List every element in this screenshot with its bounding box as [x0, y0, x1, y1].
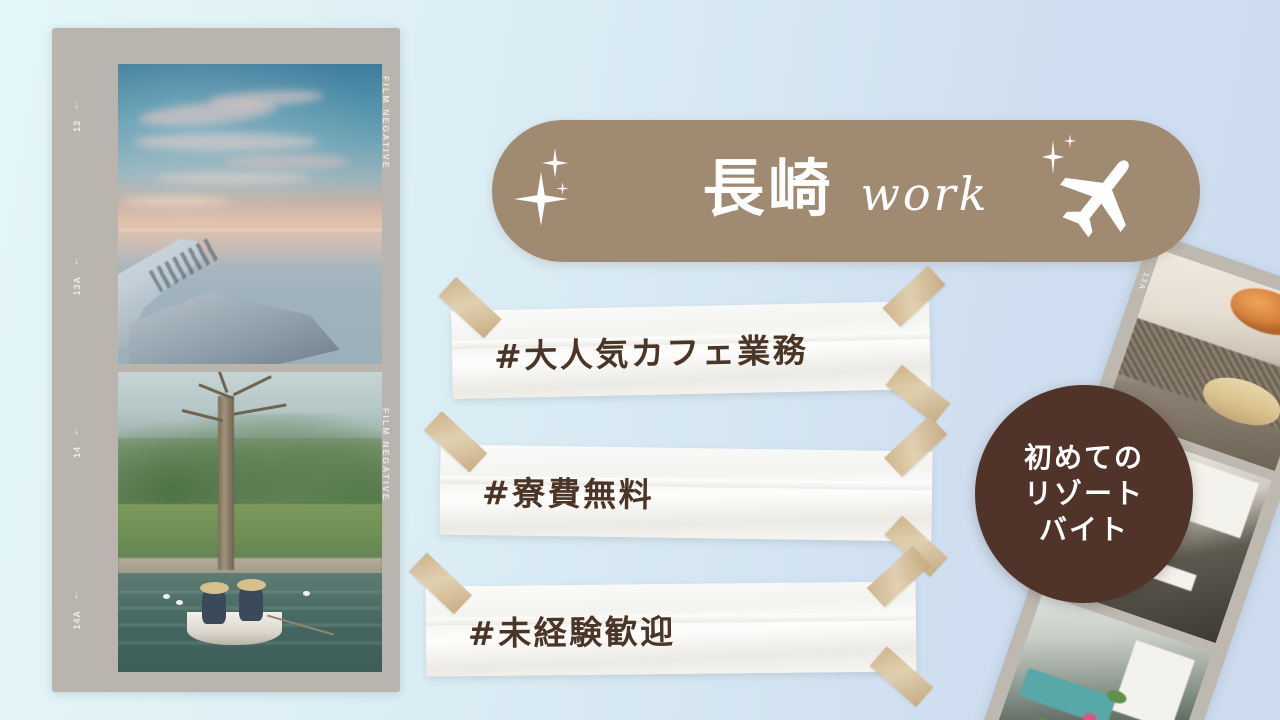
- tag-item[interactable]: #大人気カフェ業務: [451, 301, 931, 399]
- tape-icon: [409, 553, 472, 614]
- badge-line-2: リゾート: [1024, 476, 1144, 512]
- frame-number-13a: 13A: [72, 276, 82, 296]
- badge-line-1: 初めての: [1024, 440, 1144, 476]
- frame-number-14: 14: [72, 446, 82, 458]
- film-label-bottom: FILM NEGATIVE: [381, 408, 391, 502]
- tape-icon: [424, 411, 487, 472]
- airplane-icon: [1046, 150, 1158, 246]
- tape-icon: [870, 646, 934, 707]
- badge-line-3: バイト: [1039, 512, 1129, 548]
- frame-number-13: 13: [72, 120, 82, 132]
- film-strip-left: FILM NEGATIVE FILM NEGATIVE ↓ 13 ↓ 13A ↓…: [52, 28, 400, 692]
- poster-canvas: FILM NEGATIVE FILM NEGATIVE ↓ 13 ↓ 13A ↓…: [0, 0, 1280, 720]
- frame-number-14a: 14A: [72, 610, 82, 630]
- tag-item[interactable]: #寮費無料: [439, 445, 932, 542]
- film-label-top: FILM NEGATIVE: [381, 76, 391, 170]
- tape-icon: [886, 365, 951, 424]
- photo-river-boat: [118, 372, 382, 672]
- banner-title-en: work: [861, 171, 990, 217]
- tape-icon: [438, 277, 501, 338]
- tape-icon: [884, 416, 947, 477]
- photo-airplane-wing: [118, 64, 382, 364]
- tag-item[interactable]: #未経験歓迎: [426, 581, 917, 676]
- title-banner: 長崎 work: [492, 120, 1200, 262]
- tag-label: #寮費無料: [482, 466, 655, 516]
- banner-title-jp: 長崎: [703, 158, 835, 220]
- tape-icon: [867, 546, 930, 607]
- tag-label: #大人気カフェ業務: [494, 324, 809, 379]
- tape-icon: [882, 266, 945, 327]
- resort-badge[interactable]: 初めての リゾート バイト: [975, 385, 1193, 603]
- tag-label: #未経験歓迎: [468, 605, 676, 655]
